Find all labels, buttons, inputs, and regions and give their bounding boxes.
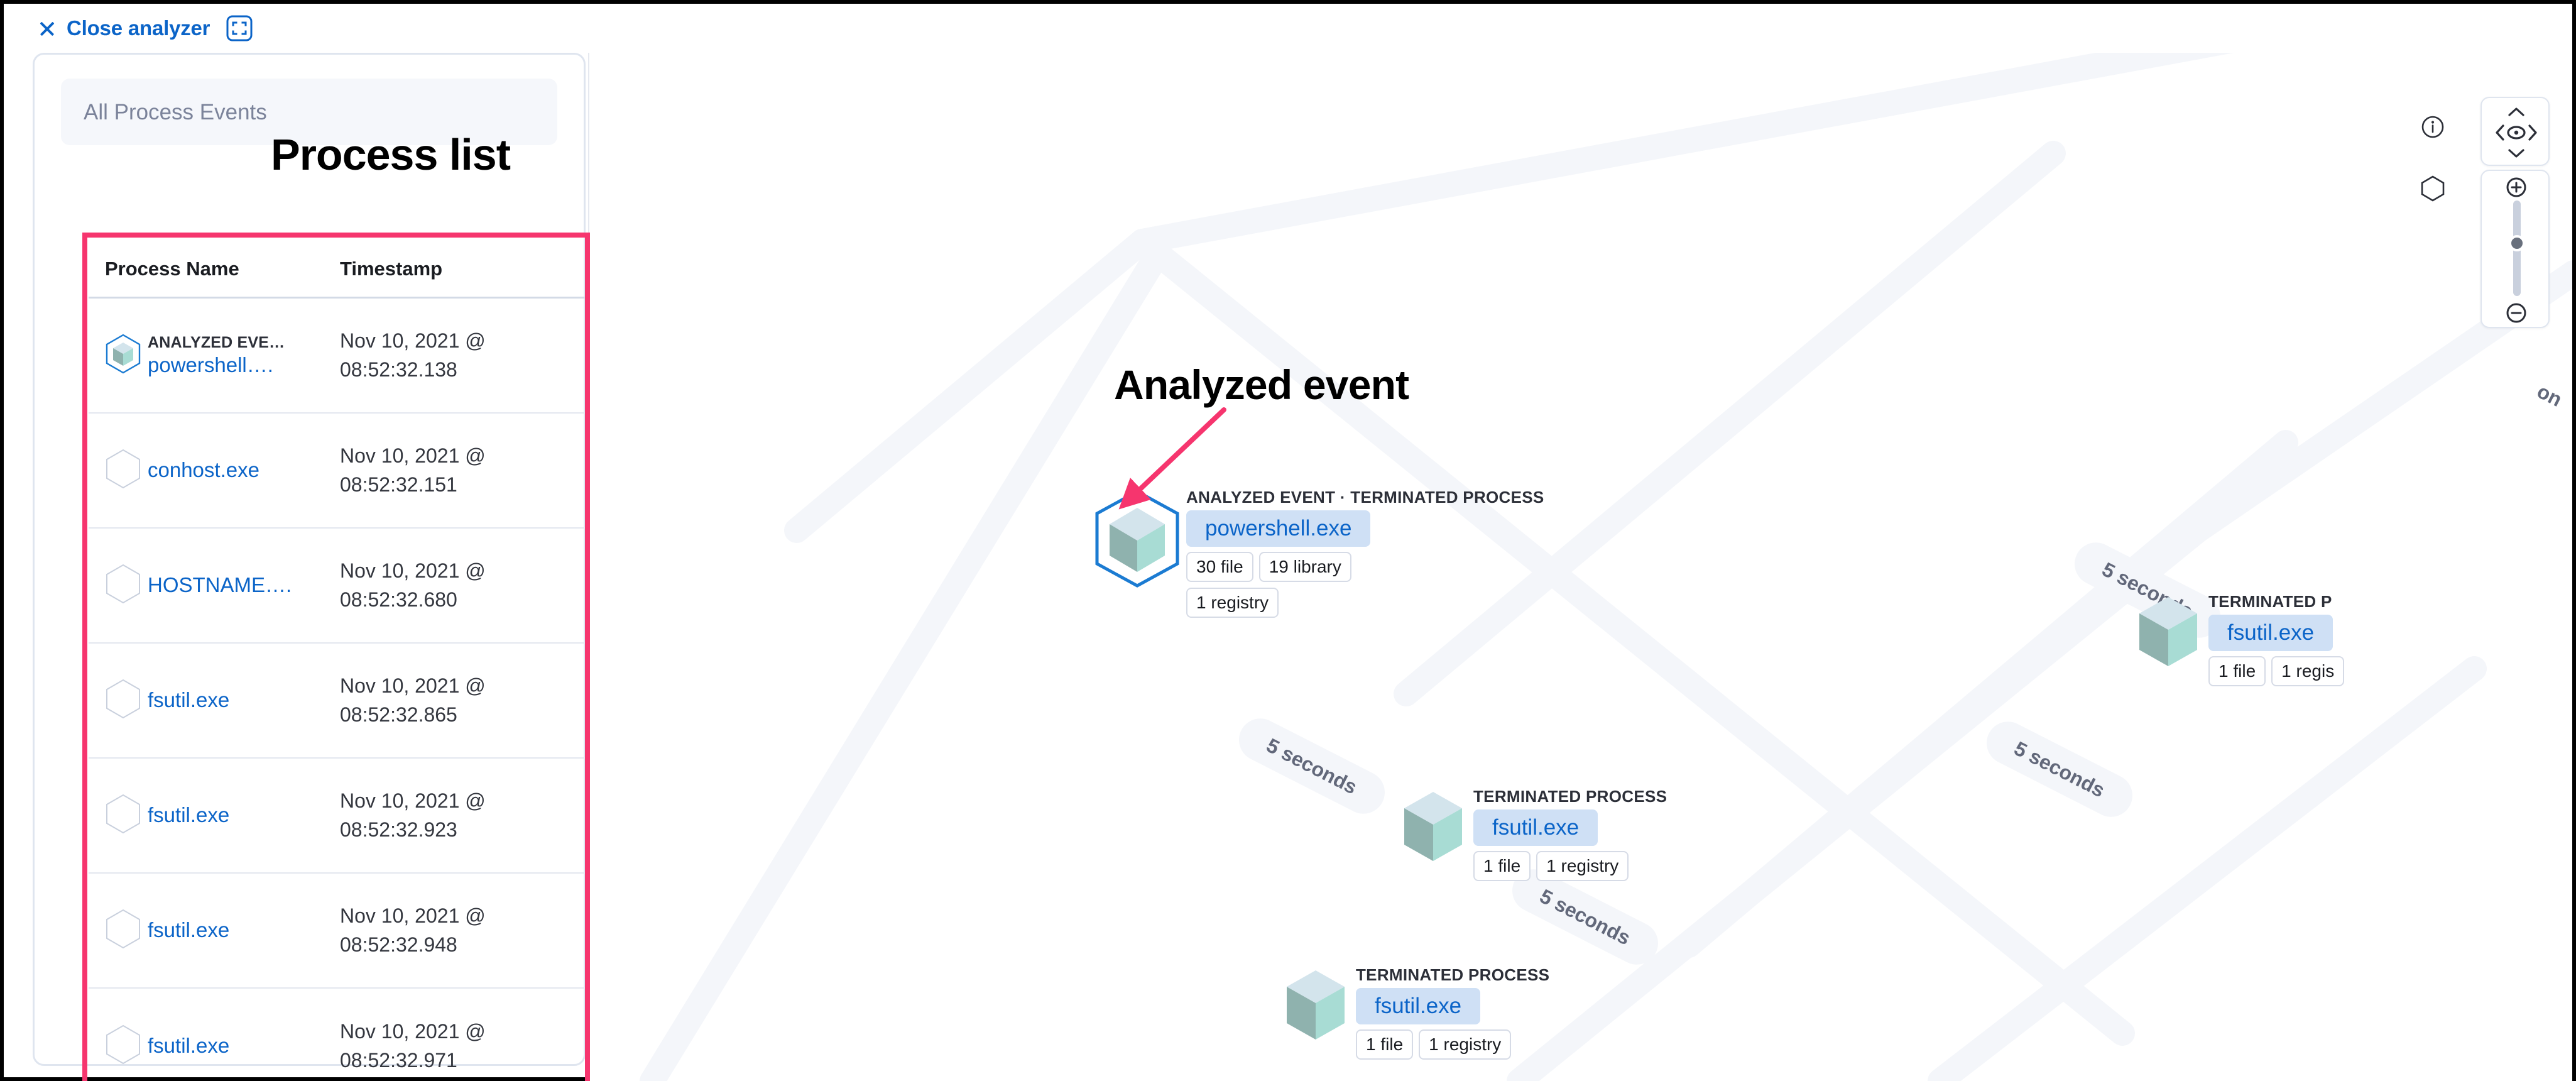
row-process-name[interactable]: powershell…. bbox=[148, 353, 285, 378]
hexagon-icon[interactable] bbox=[2419, 174, 2447, 205]
row-timestamp: Nov 10, 2021 @ 08:52:32.923 bbox=[340, 787, 486, 844]
graph-node-fsutil-bottom[interactable]: TERMINATED PROCESS fsutil.exe 1 file 1 r… bbox=[1279, 965, 1549, 1060]
table-row[interactable]: fsutil.exe Nov 10, 2021 @ 08:52:32.971 bbox=[89, 989, 585, 1081]
badge-file[interactable]: 1 file bbox=[1473, 851, 1531, 881]
row-process-name[interactable]: fsutil.exe bbox=[148, 803, 229, 828]
row-timestamp-time: 08:52:32.865 bbox=[340, 701, 486, 729]
chevron-down-icon bbox=[2509, 150, 2523, 156]
chevron-left-icon bbox=[2497, 126, 2503, 140]
analyzer-topbar: Close analyzer bbox=[4, 4, 2572, 53]
edge-label-fragment: on bbox=[2533, 380, 2565, 411]
cube-hexagon-icon bbox=[105, 334, 141, 377]
row-process-name[interactable]: HOSTNAME…. bbox=[148, 573, 292, 598]
row-timestamp: Nov 10, 2021 @ 08:52:32.948 bbox=[340, 902, 486, 959]
process-cube-icon bbox=[1397, 787, 1470, 873]
fullscreen-icon[interactable] bbox=[226, 15, 253, 41]
badge-file[interactable]: 1 file bbox=[1356, 1029, 1413, 1060]
close-icon[interactable] bbox=[36, 18, 58, 39]
row-process-name[interactable]: fsutil.exe bbox=[148, 688, 229, 713]
row-timestamp-time: 08:52:32.138 bbox=[340, 356, 486, 384]
annotation-analyzed-event: Analyzed event bbox=[1114, 361, 1409, 409]
row-timestamp: Nov 10, 2021 @ 08:52:32.151 bbox=[340, 442, 486, 499]
badge-registry[interactable]: 1 registry bbox=[1419, 1029, 1511, 1060]
badge-library[interactable]: 19 library bbox=[1259, 552, 1351, 582]
chevron-up-icon bbox=[2509, 109, 2523, 115]
column-header-timestamp: Timestamp bbox=[340, 258, 442, 280]
node-process-link[interactable]: fsutil.exe bbox=[1473, 809, 1598, 846]
row-process-name[interactable]: conhost.exe bbox=[148, 458, 259, 483]
badge-registry[interactable]: 1 registry bbox=[1536, 851, 1629, 881]
hexagon-icon bbox=[105, 679, 141, 722]
badge-registry[interactable]: 1 regis bbox=[2271, 656, 2344, 686]
hexagon-icon bbox=[105, 794, 141, 837]
process-list-card: All Process Events Process Name Timestam… bbox=[33, 53, 586, 1066]
row-timestamp-time: 08:52:32.680 bbox=[340, 586, 486, 614]
process-table: Process Name Timestamp ANALYZE bbox=[89, 241, 585, 1081]
process-graph-panel[interactable]: 5 seconds 5 seconds 5 seconds on bbox=[588, 53, 2572, 1081]
badge-file[interactable]: 1 file bbox=[2208, 656, 2266, 686]
hexagon-icon bbox=[105, 564, 141, 607]
table-row[interactable]: fsutil.exe Nov 10, 2021 @ 08:52:32.923 bbox=[89, 759, 585, 874]
row-timestamp-time: 08:52:32.151 bbox=[340, 471, 486, 499]
node-kicker: TERMINATED PROCESS bbox=[1473, 787, 1667, 806]
row-timestamp: Nov 10, 2021 @ 08:52:32.865 bbox=[340, 672, 486, 729]
hexagon-icon bbox=[105, 1024, 141, 1068]
node-badges: 1 file 1 registry bbox=[1473, 851, 1662, 881]
table-row[interactable]: HOSTNAME…. Nov 10, 2021 @ 08:52:32.680 bbox=[89, 529, 585, 644]
row-timestamp: Nov 10, 2021 @ 08:52:32.680 bbox=[340, 557, 486, 614]
graph-navigation-controls bbox=[2480, 97, 2550, 328]
row-timestamp-date: Nov 10, 2021 @ bbox=[340, 1018, 486, 1046]
process-cube-icon bbox=[1279, 965, 1352, 1051]
graph-node-fsutil-top-right[interactable]: TERMINATED P fsutil.exe 1 file 1 regis bbox=[2132, 592, 2344, 686]
hexagon-icon bbox=[105, 909, 141, 952]
row-timestamp-date: Nov 10, 2021 @ bbox=[340, 442, 486, 470]
row-timestamp-date: Nov 10, 2021 @ bbox=[340, 902, 486, 930]
graph-side-icons bbox=[2419, 114, 2447, 205]
all-process-events-label: All Process Events bbox=[84, 100, 267, 125]
row-timestamp: Nov 10, 2021 @ 08:52:32.971 bbox=[340, 1018, 486, 1075]
row-process-name[interactable]: fsutil.exe bbox=[148, 1033, 229, 1058]
row-process-name[interactable]: fsutil.exe bbox=[148, 918, 229, 943]
hexagon-icon bbox=[105, 449, 141, 492]
process-table-header: Process Name Timestamp bbox=[89, 241, 585, 299]
analyzer-window: Close analyzer All Process Events Proces… bbox=[0, 0, 2576, 1081]
close-analyzer-label[interactable]: Close analyzer bbox=[67, 16, 210, 40]
node-badges: 30 file 19 library 1 registry bbox=[1186, 552, 1375, 618]
chevron-right-icon bbox=[2530, 126, 2536, 140]
table-row[interactable]: conhost.exe Nov 10, 2021 @ 08:52:32.151 bbox=[89, 414, 585, 529]
table-row[interactable]: fsutil.exe Nov 10, 2021 @ 08:52:32.948 bbox=[89, 874, 585, 989]
row-timestamp-time: 08:52:32.971 bbox=[340, 1046, 486, 1075]
node-badges: 1 file 1 registry bbox=[1356, 1029, 1544, 1060]
table-row[interactable]: ANALYZED EVE… powershell…. Nov 10, 2021 … bbox=[89, 299, 585, 414]
row-timestamp-date: Nov 10, 2021 @ bbox=[340, 327, 486, 355]
table-row[interactable]: fsutil.exe Nov 10, 2021 @ 08:52:32.865 bbox=[89, 644, 585, 759]
row-kicker: ANALYZED EVE… bbox=[148, 333, 285, 353]
annotation-process-list: Process list bbox=[271, 129, 510, 180]
annotation-arrow-icon bbox=[1105, 405, 1243, 518]
badge-registry[interactable]: 1 registry bbox=[1186, 588, 1279, 618]
badge-file[interactable]: 30 file bbox=[1186, 552, 1253, 582]
graph-node-fsutil-middle[interactable]: TERMINATED PROCESS fsutil.exe 1 file 1 r… bbox=[1397, 787, 1667, 881]
graph-edges: 5 seconds 5 seconds 5 seconds on bbox=[589, 53, 2572, 1081]
row-timestamp-date: Nov 10, 2021 @ bbox=[340, 557, 486, 585]
row-timestamp-date: Nov 10, 2021 @ bbox=[340, 672, 486, 700]
zoom-slider-thumb[interactable] bbox=[2509, 235, 2525, 251]
zoom-slider-control[interactable] bbox=[2480, 170, 2550, 328]
process-cube-icon bbox=[2132, 592, 2205, 678]
row-timestamp-time: 08:52:32.923 bbox=[340, 816, 486, 844]
column-header-process-name: Process Name bbox=[89, 258, 340, 280]
row-timestamp-time: 08:52:32.948 bbox=[340, 931, 486, 959]
node-badges: 1 file 1 regis bbox=[2208, 656, 2344, 686]
node-kicker: TERMINATED PROCESS bbox=[1356, 965, 1549, 985]
pan-control-pad[interactable] bbox=[2480, 97, 2550, 166]
node-kicker: TERMINATED P bbox=[2208, 592, 2344, 612]
row-timestamp: Nov 10, 2021 @ 08:52:32.138 bbox=[340, 327, 486, 384]
info-icon[interactable] bbox=[2420, 114, 2445, 143]
node-process-link[interactable]: fsutil.exe bbox=[1356, 988, 1480, 1024]
node-process-link[interactable]: fsutil.exe bbox=[2208, 615, 2333, 651]
row-timestamp-date: Nov 10, 2021 @ bbox=[340, 787, 486, 815]
